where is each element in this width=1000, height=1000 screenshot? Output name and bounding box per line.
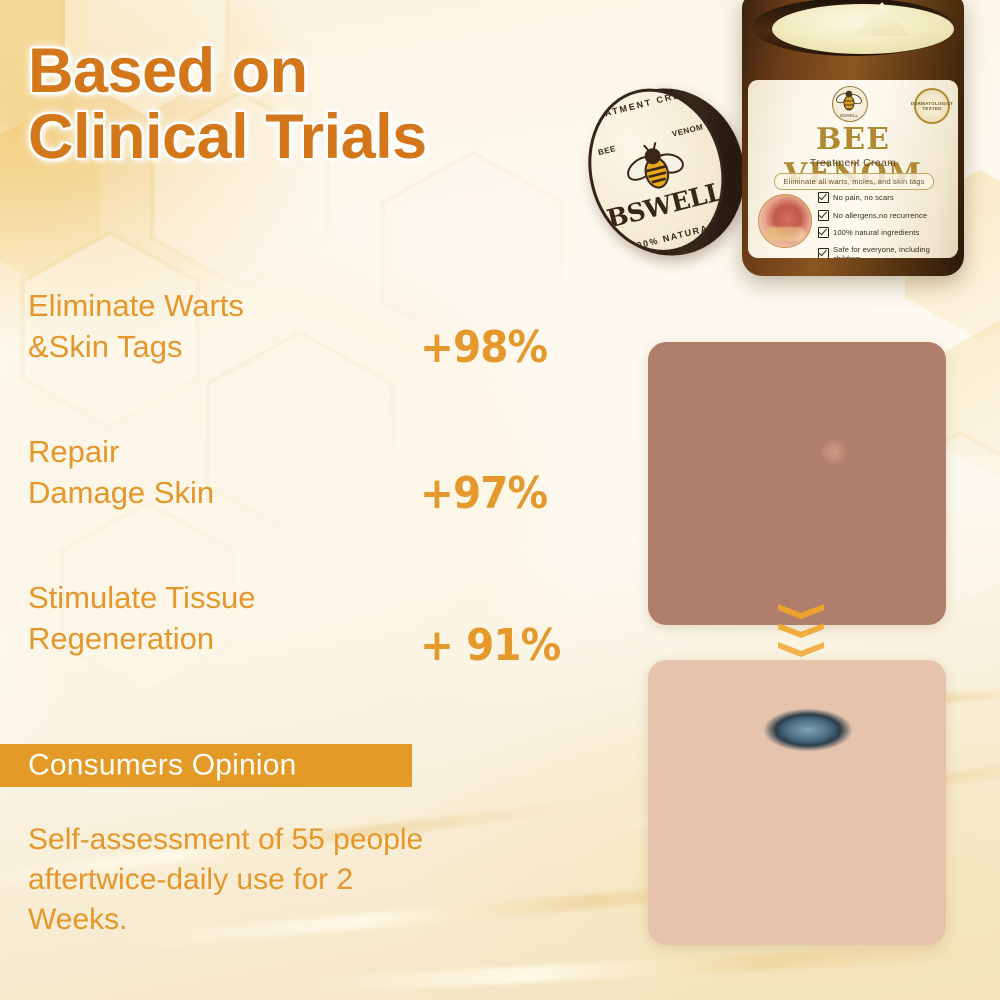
headline: Based on Clinical Trials — [28, 38, 588, 170]
benefit-percent: + 91% — [420, 620, 560, 671]
consumers-opinion-banner: Consumers Opinion — [0, 744, 412, 787]
benefit-label: Repair Damage Skin — [28, 432, 358, 514]
check-icon — [818, 227, 829, 238]
check-icon — [818, 210, 829, 221]
headline-line-1: Based on — [28, 38, 588, 104]
jar-feature-item: Safe for everyone, including children — [818, 245, 952, 259]
benefit-label: Stimulate Tissue Regeneration — [28, 578, 358, 660]
lid-arc-top-text: TREATMENT CREAM — [577, 84, 704, 125]
jar-feature-text: No pain, no scars — [833, 193, 894, 202]
dermatologist-seal-badge: DERMATOLOGIST TESTED — [914, 88, 950, 124]
jar-feature-text: No allergens,no recurrence — [833, 211, 927, 220]
benefit-percent: +98% — [420, 322, 547, 373]
promo-image-root: Based on Clinical Trials Eliminate Warts… — [0, 0, 1000, 1000]
jar-feature-text: 100% natural ingredients — [833, 228, 919, 237]
check-icon — [818, 248, 829, 258]
benefit-label-line-2: Damage Skin — [28, 473, 358, 514]
benefit-item: Stimulate Tissue Regeneration + 91% — [28, 578, 588, 724]
benefit-item: Repair Damage Skin +97% — [28, 432, 588, 578]
after-photo — [648, 660, 946, 945]
product-jar: BSWELL DERMATOLOGIST TESTED BEE VENOM Tr… — [742, 0, 964, 276]
check-icon — [818, 192, 829, 203]
cream-content — [772, 4, 954, 54]
benefit-label-line-1: Eliminate Warts — [28, 286, 358, 327]
skin-diagram-inset — [758, 194, 812, 248]
product-jar-lid: TREATMENT CREAM BEE VENOM BSWELL 100% NA… — [574, 72, 762, 272]
benefit-percent: +97% — [420, 468, 547, 519]
chevron-down-icon — [778, 623, 824, 638]
note-line-3: Weeks. — [28, 900, 548, 940]
light-streak — [300, 942, 1000, 995]
note-line-1: Self-assessment of 55 people — [28, 820, 548, 860]
brand-logo-badge: BSWELL — [832, 86, 868, 122]
jar-subtitle: Treatment Cream — [748, 157, 958, 169]
consumers-opinion-label: Consumers Opinion — [28, 748, 297, 782]
svg-text:BSWELL: BSWELL — [840, 113, 858, 118]
consumers-opinion-note: Self-assessment of 55 people aftertwice-… — [28, 820, 548, 940]
cream-peak — [854, 2, 910, 36]
headline-line-2: Clinical Trials — [28, 104, 588, 170]
jar-feature-item: No allergens,no recurrence — [818, 210, 952, 221]
before-after-arrow — [772, 604, 830, 661]
benefit-label-line-1: Stimulate Tissue — [28, 578, 358, 619]
note-line-2: aftertwice-daily use for 2 — [28, 860, 548, 900]
jar-feature-item: No pain, no scars — [818, 192, 952, 203]
benefits-list: Eliminate Warts &Skin Tags +98% Repair D… — [28, 286, 588, 724]
benefit-item: Eliminate Warts &Skin Tags +98% — [28, 286, 588, 432]
chevron-down-icon — [778, 604, 824, 619]
bee-logo-icon: BSWELL — [833, 87, 865, 119]
jar-feature-item: 100% natural ingredients — [818, 227, 952, 238]
jar-feature-text: Safe for everyone, including children — [833, 245, 952, 259]
benefit-label-line-1: Repair — [28, 432, 358, 473]
benefit-label: Eliminate Warts &Skin Tags — [28, 286, 358, 368]
jar-label: BSWELL DERMATOLOGIST TESTED BEE VENOM Tr… — [748, 80, 958, 258]
benefit-label-line-2: Regeneration — [28, 619, 358, 660]
benefit-label-line-2: &Skin Tags — [28, 327, 358, 368]
jar-mouth — [752, 0, 954, 56]
chevron-down-icon — [778, 642, 824, 657]
lid-side-left-text: BEE — [597, 144, 617, 157]
jar-tagline: Eliminate all warts, moles, and skin tag… — [774, 173, 934, 190]
before-photo — [648, 342, 946, 625]
jar-feature-list: No pain, no scars No allergens,no recurr… — [818, 192, 952, 258]
